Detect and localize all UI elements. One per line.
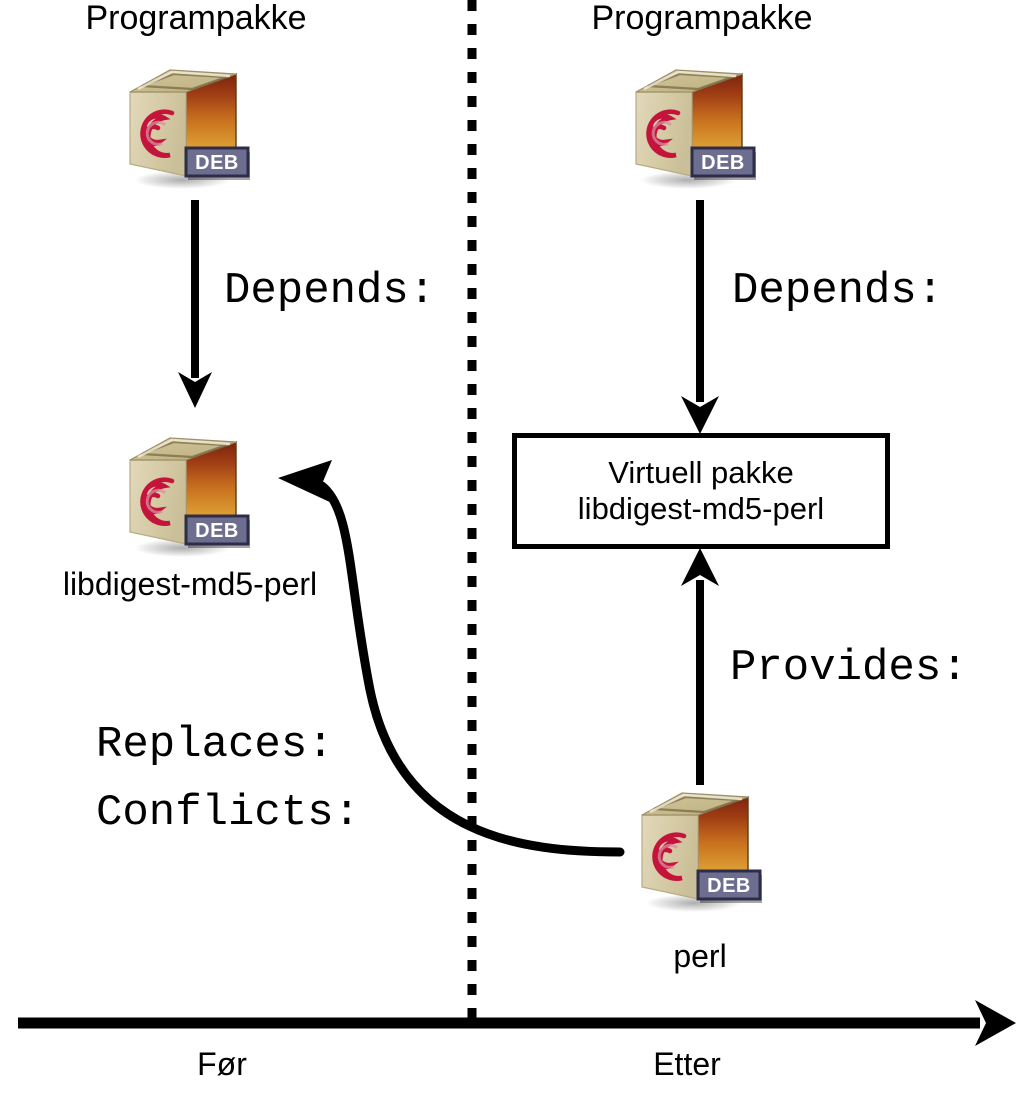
caption-programpakke-before: Programpakke — [85, 1, 306, 37]
caption-perl: perl — [673, 940, 726, 974]
edge-label-conflicts: Conflicts: — [96, 790, 360, 836]
edge-label-depends-right: Depends: — [732, 268, 943, 314]
package-icon-libdigest-md5-perl — [108, 420, 256, 568]
timeline-axis — [18, 1000, 1016, 1046]
timeline-label-after: Etter — [653, 1048, 721, 1082]
package-icon-perl — [620, 775, 768, 923]
arrow-depends-right — [681, 200, 719, 434]
package-icon-top-left — [108, 52, 256, 200]
virtual-package-line1: Virtuell pakke — [608, 455, 794, 491]
caption-programpakke-after: Programpakke — [591, 1, 812, 37]
edge-label-depends-left: Depends: — [224, 268, 435, 314]
edge-label-provides: Provides: — [730, 645, 968, 691]
virtual-package-line2: libdigest-md5-perl — [578, 491, 824, 527]
arrow-depends-left — [178, 200, 212, 408]
virtual-package-box: Virtuell pakke libdigest-md5-perl — [512, 433, 890, 549]
edge-label-replaces: Replaces: — [96, 722, 334, 768]
package-icon-top-right — [614, 52, 762, 200]
caption-libdigest-md5-perl: libdigest-md5-perl — [63, 568, 317, 602]
arrow-provides — [681, 548, 719, 785]
timeline-label-before: Før — [197, 1048, 247, 1082]
diagram-canvas: DEB — [0, 0, 1024, 1094]
